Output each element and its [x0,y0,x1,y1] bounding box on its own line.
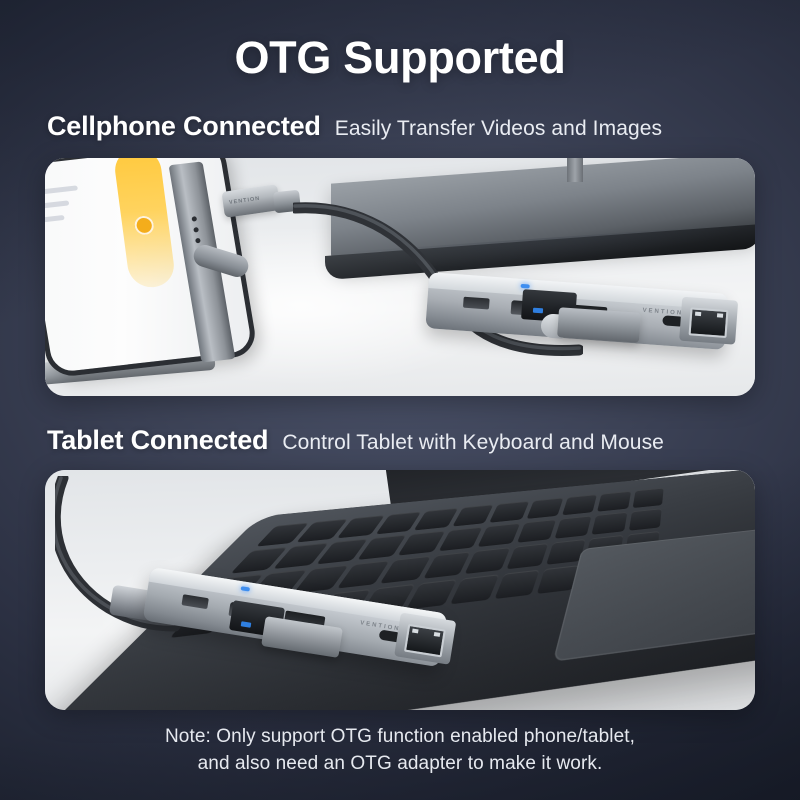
sd-card-slot [181,594,208,609]
footnote: Note: Only support OTG function enabled … [0,723,800,777]
photo-panel-tablet: VENTION [45,470,755,710]
rj45-led-right [717,313,723,317]
section-subtitle-tablet: Control Tablet with Keyboard and Mouse [282,431,664,455]
photo-panel-cellphone: VENTION VENTION [45,158,755,396]
rj45-socket [689,307,729,338]
section-title-cellphone: Cellphone Connected [47,111,321,142]
section-subtitle-cellphone: Easily Transfer Videos and Images [335,117,662,141]
monitor-stand [567,158,583,182]
rj45-led-right [434,632,441,637]
scene-tablet: VENTION [45,470,755,710]
scene-cellphone: VENTION VENTION [45,158,755,396]
phone-screen-lines [45,185,84,232]
rj45-ethernet-port [679,297,738,345]
hub-status-led [521,284,530,289]
rj45-led-left [695,312,701,316]
page-title: OTG Supported [0,32,800,84]
section-heading-cellphone: Cellphone Connected Easily Transfer Vide… [47,111,662,142]
footnote-line-1: Note: Only support OTG function enabled … [0,723,800,750]
footnote-line-2: and also need an OTG adapter to make it … [0,750,800,777]
adapter-brand-label: VENTION [229,196,261,206]
usb-dongle-blue-tongue [533,308,543,314]
rj45-led-left [412,629,419,634]
rj45-socket [404,624,446,658]
section-title-tablet: Tablet Connected [47,425,268,456]
sd-card-slot [463,297,490,310]
section-heading-tablet: Tablet Connected Control Tablet with Key… [47,425,664,456]
rj45-ethernet-port [394,613,456,665]
product-poster: OTG Supported Cellphone Connected Easily… [0,0,800,800]
usb-flash-drive [557,307,641,343]
